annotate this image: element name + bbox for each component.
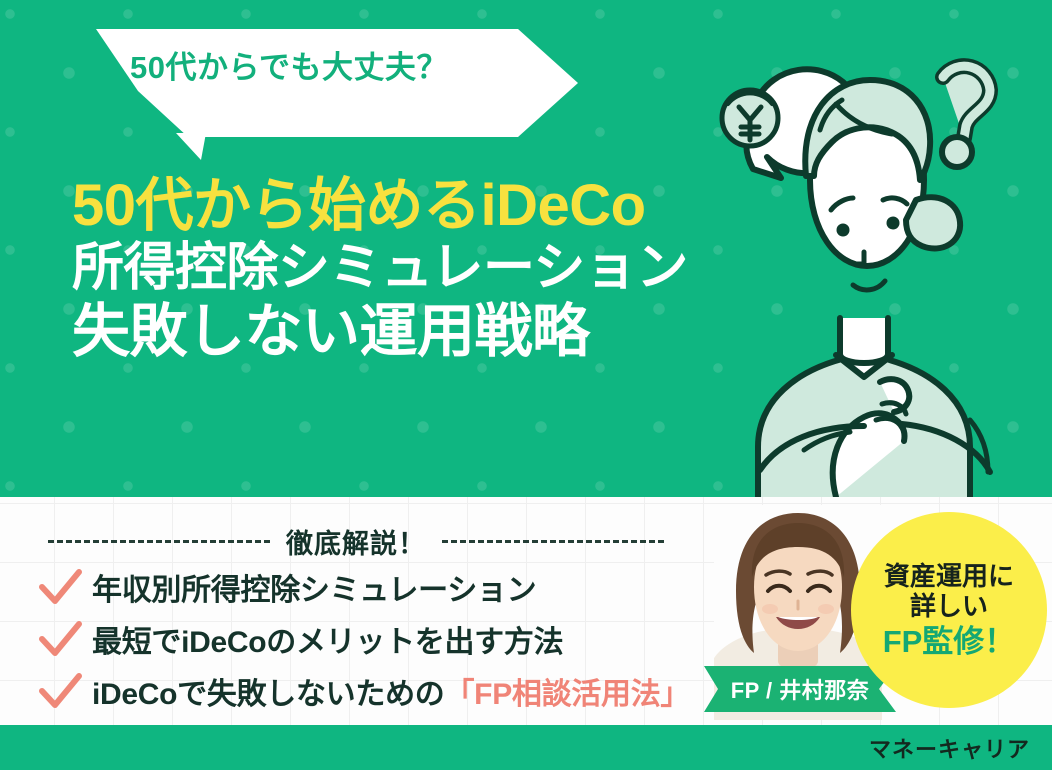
list-item: 年収別所得控除シミュレーション bbox=[36, 563, 736, 611]
check-icon bbox=[36, 671, 92, 711]
checklist: 年収別所得控除シミュレーション 最短でiDeCoのメリットを出す方法 iDeCo… bbox=[36, 563, 736, 719]
list-item-highlight: 「FP相談活用法」 bbox=[444, 678, 690, 711]
kicker-row: 徹底解説！ bbox=[0, 524, 740, 558]
badge-line-3: FP監修！ bbox=[883, 624, 1016, 660]
check-icon bbox=[36, 567, 92, 607]
badge-line-1: 資産運用に bbox=[884, 561, 1014, 592]
fp-name-label: FP / 井村那奈 bbox=[731, 673, 870, 705]
check-icon bbox=[36, 619, 92, 659]
speech-bubble-label: 50代からでも大丈夫？ bbox=[130, 52, 550, 83]
list-item: 最短でiDeCoのメリットを出す方法 bbox=[36, 615, 736, 663]
thinking-woman-illustration bbox=[640, 0, 1052, 497]
dashed-rule-left bbox=[48, 540, 270, 543]
question-mark-icon bbox=[942, 66, 990, 167]
hero-green-panel: 50代からでも大丈夫？ 50代から始めるiDeCo 所得控除シミュレーション 失… bbox=[0, 0, 1052, 497]
list-item-label: iDeCoで失敗しないための「FP相談活用法」 bbox=[92, 669, 690, 713]
badge-line-2: 詳しい bbox=[910, 591, 988, 622]
banner-stage: 50代からでも大丈夫？ 50代から始めるiDeCo 所得控除シミュレーション 失… bbox=[0, 0, 1052, 770]
fp-name-ribbon: FP / 井村那奈 bbox=[704, 666, 896, 712]
fp-supervision-badge: 資産運用に 詳しい FP監修！ bbox=[851, 512, 1047, 708]
list-item-label: 最短でiDeCoのメリットを出す方法 bbox=[92, 617, 563, 661]
list-item-label: 年収別所得控除シミュレーション bbox=[92, 565, 536, 609]
footer-bar: マネーキャリア bbox=[0, 725, 1052, 770]
dashed-rule-right bbox=[442, 540, 664, 543]
list-item: iDeCoで失敗しないための「FP相談活用法」 bbox=[36, 667, 736, 715]
kicker-label: 徹底解説！ bbox=[286, 522, 426, 561]
brand-logo: マネーキャリア bbox=[869, 732, 1030, 764]
